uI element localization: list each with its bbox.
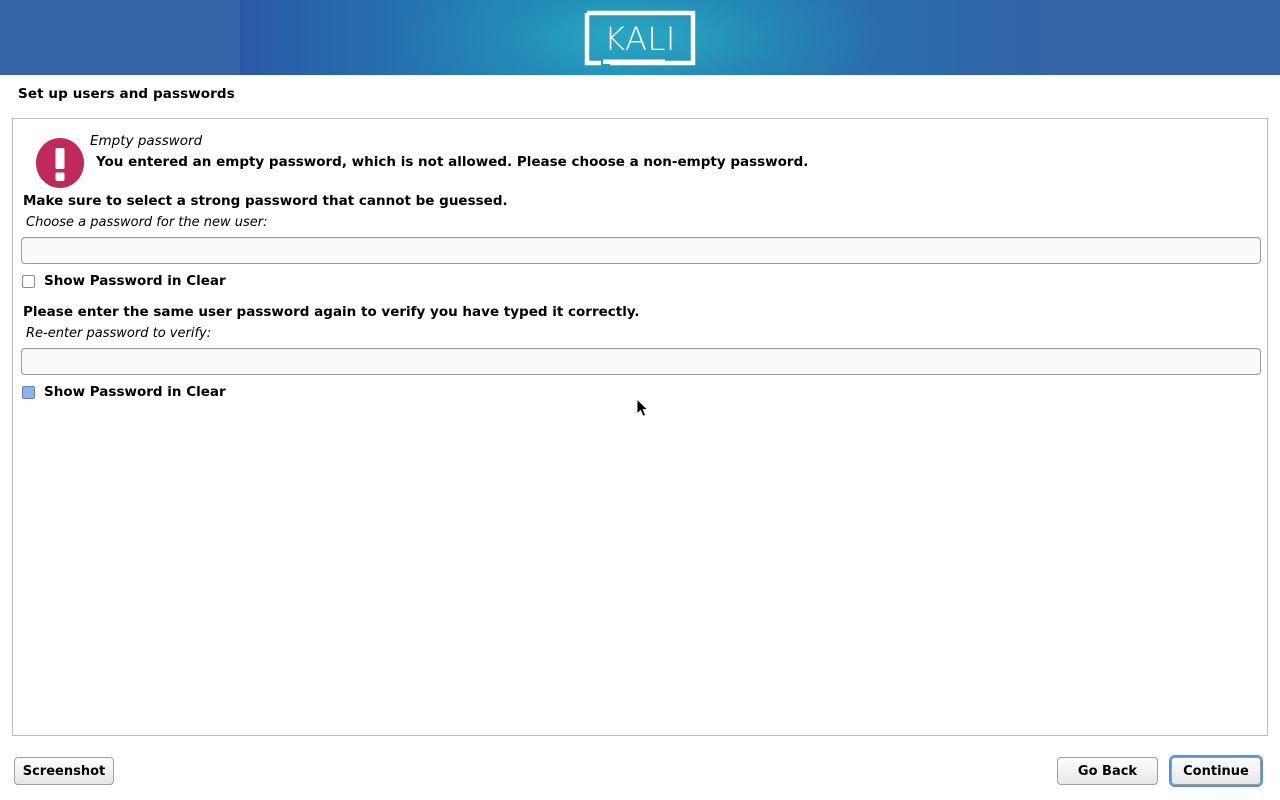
password-form: Make sure to select a strong password th… xyxy=(13,193,1269,401)
password-show-in-clear-label: Show Password in Clear xyxy=(44,274,226,288)
error-title: Empty password xyxy=(90,133,808,150)
continue-button[interactable]: Continue xyxy=(1171,757,1261,785)
installer-banner: KALI xyxy=(0,0,1280,75)
error-text-wrap: Empty password You entered an empty pass… xyxy=(90,133,808,171)
password-hint: Make sure to select a strong password th… xyxy=(23,193,1269,210)
svg-text:KALI: KALI xyxy=(604,20,676,58)
password-show-in-clear-row[interactable]: Show Password in Clear xyxy=(22,272,1269,290)
verify-field-label: Re-enter password to verify: xyxy=(26,325,1269,342)
verify-show-in-clear-checkbox[interactable] xyxy=(22,386,35,399)
go-back-button[interactable]: Go Back xyxy=(1057,757,1158,785)
verify-hint: Please enter the same user password agai… xyxy=(23,304,1269,321)
error-message-text: You entered an empty password, which is … xyxy=(96,153,808,171)
error-message-block: Empty password You entered an empty pass… xyxy=(22,127,1252,191)
page-title: Set up users and passwords xyxy=(18,86,235,102)
error-exclamation-icon xyxy=(34,137,86,189)
password-show-in-clear-checkbox[interactable] xyxy=(22,275,35,288)
password-input[interactable] xyxy=(21,237,1261,264)
password-field-label: Choose a password for the new user: xyxy=(26,214,1269,231)
verify-show-in-clear-row[interactable]: Show Password in Clear xyxy=(22,383,1269,401)
kali-logo-icon: KALI xyxy=(583,9,697,67)
verify-show-in-clear-label: Show Password in Clear xyxy=(44,385,226,399)
verify-password-input[interactable] xyxy=(21,348,1261,375)
screenshot-button[interactable]: Screenshot xyxy=(14,757,114,785)
installer-content-frame: Empty password You entered an empty pass… xyxy=(12,118,1268,736)
